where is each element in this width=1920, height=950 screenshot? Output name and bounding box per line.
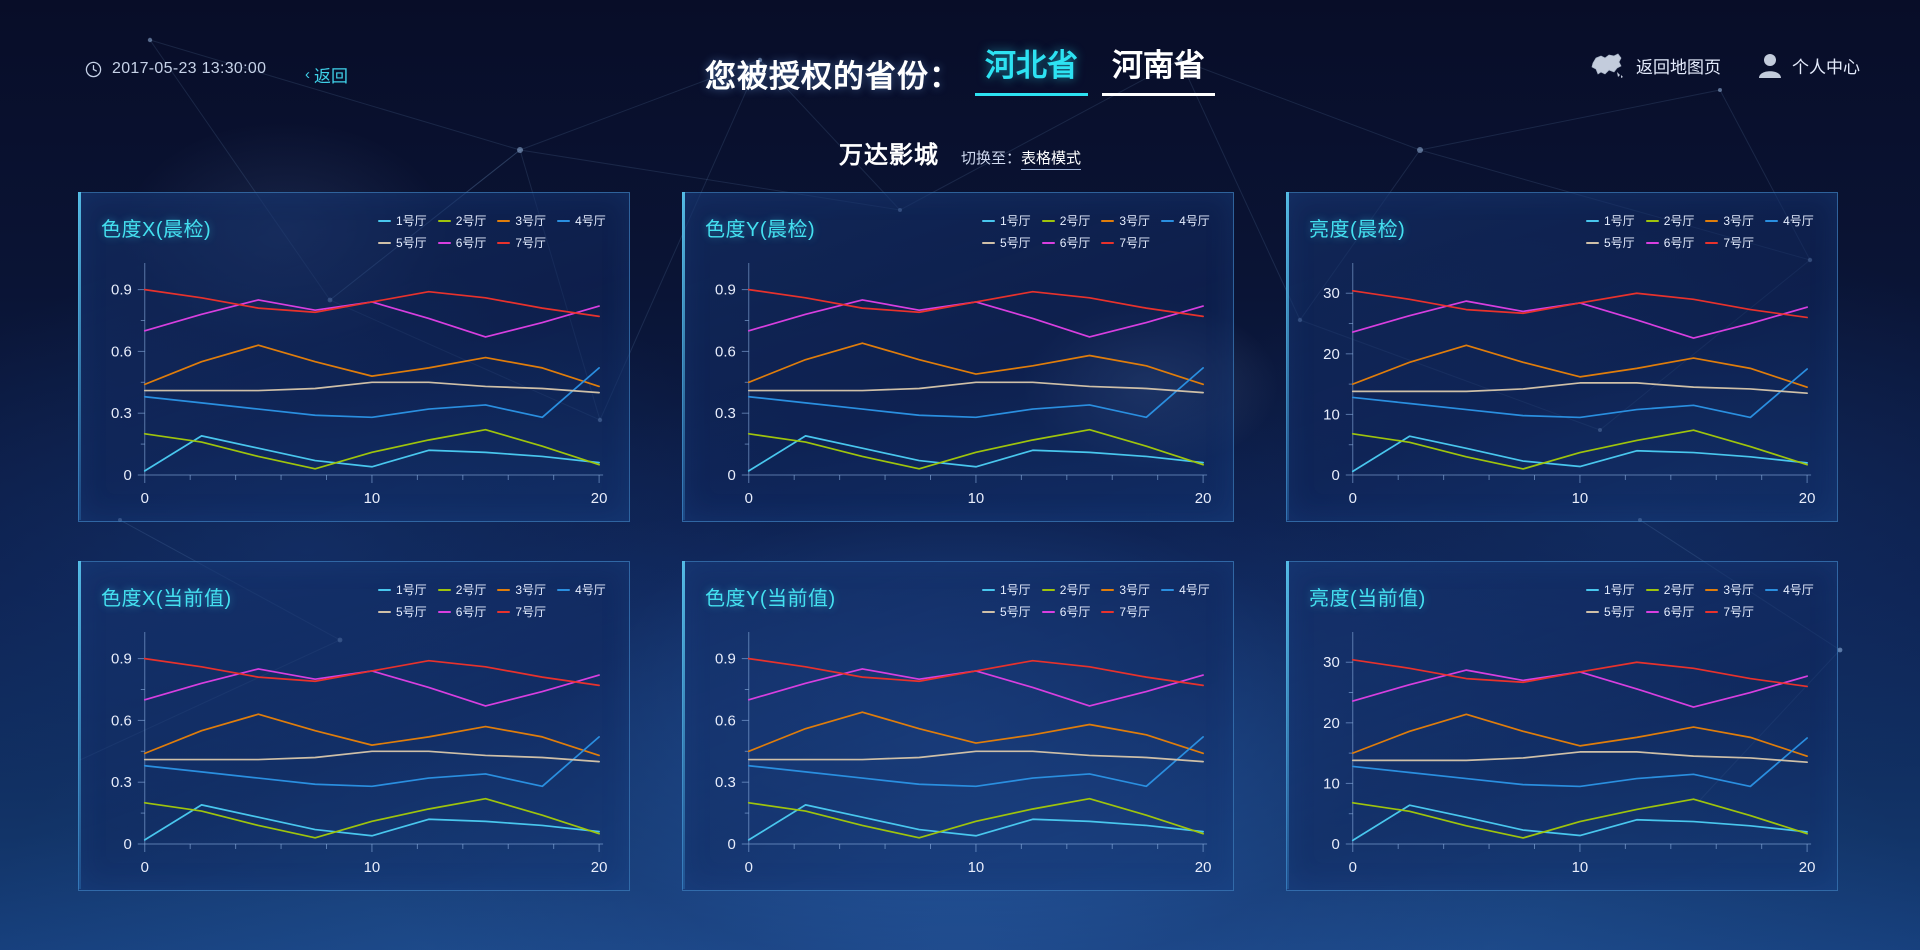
- legend-label: 1号厅: [1000, 581, 1031, 598]
- series-line-2号厅: [145, 430, 599, 469]
- legend-label: 3号厅: [1723, 212, 1754, 229]
- legend-swatch-icon: [557, 589, 570, 591]
- legend-item[interactable]: 7号厅: [1101, 234, 1150, 251]
- y-tick-label: 0: [123, 467, 131, 484]
- legend-label: 4号厅: [1179, 581, 1210, 598]
- legend-label: 7号厅: [1723, 234, 1754, 251]
- legend-swatch-icon: [378, 589, 391, 591]
- user-center-button[interactable]: 个人中心: [1757, 51, 1860, 79]
- legend-item[interactable]: 4号厅: [1765, 212, 1814, 229]
- legend-item[interactable]: 5号厅: [378, 234, 427, 251]
- legend-swatch-icon: [1646, 611, 1659, 613]
- chart-legend: 1号厅2号厅3号厅4号厅5号厅6号厅7号厅: [378, 581, 612, 620]
- legend-item[interactable]: 3号厅: [497, 581, 546, 598]
- legend-label: 4号厅: [1179, 212, 1210, 229]
- chart-title: 色度Y(当前值): [705, 582, 836, 611]
- legend-swatch-icon: [1586, 242, 1599, 244]
- series-line-1号厅: [749, 436, 1203, 471]
- legend-label: 5号厅: [1000, 603, 1031, 620]
- series-line-5号厅: [145, 751, 599, 761]
- chart-title: 色度X(当前值): [101, 582, 232, 611]
- x-tick-label: 0: [1349, 490, 1357, 507]
- legend-label: 6号厅: [1060, 234, 1091, 251]
- x-tick-label: 0: [745, 859, 753, 876]
- legend-item[interactable]: 1号厅: [378, 212, 427, 229]
- legend-label: 2号厅: [1664, 581, 1695, 598]
- series-line-1号厅: [145, 436, 599, 471]
- legend-label: 2号厅: [456, 212, 487, 229]
- series-line-2号厅: [145, 799, 599, 838]
- legend-swatch-icon: [982, 589, 995, 591]
- y-tick-label: 30: [1323, 285, 1340, 302]
- legend-item[interactable]: 4号厅: [557, 581, 606, 598]
- y-tick-label: 0.9: [715, 651, 736, 668]
- chart-plot-area: 00.30.60.901020: [79, 620, 629, 892]
- x-tick-label: 10: [968, 859, 985, 876]
- legend-swatch-icon: [1042, 242, 1055, 244]
- chart-panel-brightness-morning: 亮度(晨检)1号厅2号厅3号厅4号厅5号厅6号厅7号厅010203001020: [1286, 192, 1838, 522]
- y-tick-label: 0.3: [715, 405, 736, 422]
- series-line-5号厅: [749, 382, 1203, 392]
- series-line-5号厅: [1353, 752, 1807, 762]
- legend-label: 1号厅: [396, 212, 427, 229]
- y-tick-label: 0: [1331, 467, 1339, 484]
- y-tick-label: 0.3: [111, 405, 132, 422]
- series-line-3号厅: [145, 345, 599, 386]
- y-tick-label: 0: [1331, 836, 1339, 853]
- legend-item[interactable]: 6号厅: [1646, 603, 1695, 620]
- legend-swatch-icon: [1586, 589, 1599, 591]
- legend-item[interactable]: 6号厅: [1042, 603, 1091, 620]
- legend-swatch-icon: [1705, 611, 1718, 613]
- legend-label: 3号厅: [1723, 581, 1754, 598]
- legend-item[interactable]: 3号厅: [497, 212, 546, 229]
- legend-swatch-icon: [1586, 220, 1599, 222]
- series-line-1号厅: [145, 805, 599, 840]
- series-line-1号厅: [1353, 805, 1807, 840]
- legend-label: 3号厅: [1119, 212, 1150, 229]
- legend-item[interactable]: 1号厅: [378, 581, 427, 598]
- legend-swatch-icon: [1705, 220, 1718, 222]
- legend-item[interactable]: 1号厅: [1586, 212, 1635, 229]
- legend-label: 6号厅: [456, 234, 487, 251]
- legend-label: 3号厅: [515, 212, 546, 229]
- switch-view-prefix: 切换至：: [961, 147, 1021, 168]
- chart-panel-chroma-x-current: 色度X(当前值)1号厅2号厅3号厅4号厅5号厅6号厅7号厅00.30.60.90…: [78, 561, 630, 891]
- series-line-7号厅: [749, 659, 1203, 686]
- legend-swatch-icon: [982, 220, 995, 222]
- series-line-3号厅: [749, 712, 1203, 753]
- legend-item[interactable]: 5号厅: [1586, 603, 1635, 620]
- legend-swatch-icon: [1705, 589, 1718, 591]
- legend-swatch-icon: [1161, 220, 1174, 222]
- switch-view-control: 切换至： 表格模式: [961, 147, 1081, 170]
- legend-label: 6号厅: [1664, 234, 1695, 251]
- legend-label: 5号厅: [1000, 234, 1031, 251]
- x-tick-label: 20: [591, 490, 608, 507]
- series-line-2号厅: [1353, 799, 1807, 838]
- cinema-name: 万达影城: [839, 135, 939, 170]
- y-tick-label: 0.9: [715, 282, 736, 299]
- legend-label: 4号厅: [1783, 212, 1814, 229]
- series-line-7号厅: [749, 290, 1203, 317]
- legend-item[interactable]: 2号厅: [1042, 212, 1091, 229]
- series-line-5号厅: [145, 382, 599, 392]
- chart-title: 亮度(当前值): [1309, 582, 1426, 611]
- x-tick-label: 0: [141, 490, 149, 507]
- legend-item[interactable]: 6号厅: [438, 603, 487, 620]
- legend-item[interactable]: 7号厅: [497, 603, 546, 620]
- legend-item[interactable]: 4号厅: [557, 212, 606, 229]
- series-line-4号厅: [749, 737, 1203, 786]
- legend-item[interactable]: 2号厅: [1646, 581, 1695, 598]
- legend-item[interactable]: 5号厅: [1586, 234, 1635, 251]
- x-tick-label: 0: [141, 859, 149, 876]
- legend-item[interactable]: 3号厅: [1705, 581, 1754, 598]
- series-line-6号厅: [1353, 670, 1807, 707]
- chart-panel-chroma-x-morning: 色度X(晨检)1号厅2号厅3号厅4号厅5号厅6号厅7号厅00.30.60.901…: [78, 192, 630, 522]
- legend-item[interactable]: 4号厅: [1161, 581, 1210, 598]
- legend-label: 2号厅: [1060, 212, 1091, 229]
- series-line-2号厅: [749, 430, 1203, 469]
- chart-panel-chroma-y-morning: 色度Y(晨检)1号厅2号厅3号厅4号厅5号厅6号厅7号厅00.30.60.901…: [682, 192, 1234, 522]
- legend-swatch-icon: [438, 611, 451, 613]
- x-tick-label: 0: [1349, 859, 1357, 876]
- legend-label: 3号厅: [1119, 581, 1150, 598]
- legend-item[interactable]: 1号厅: [1586, 581, 1635, 598]
- chart-panel-chroma-y-current: 色度Y(当前值)1号厅2号厅3号厅4号厅5号厅6号厅7号厅00.30.60.90…: [682, 561, 1234, 891]
- legend-item[interactable]: 1号厅: [982, 581, 1031, 598]
- legend-swatch-icon: [1765, 589, 1778, 591]
- x-tick-label: 10: [1572, 859, 1589, 876]
- x-tick-label: 0: [745, 490, 753, 507]
- legend-item[interactable]: 2号厅: [438, 581, 487, 598]
- province-tab-hebei[interactable]: 河北省: [975, 40, 1088, 96]
- legend-item[interactable]: 2号厅: [438, 212, 487, 229]
- series-line-7号厅: [145, 290, 599, 317]
- user-avatar-icon: [1757, 51, 1783, 79]
- legend-label: 1号厅: [1604, 212, 1635, 229]
- x-tick-label: 20: [1195, 490, 1212, 507]
- series-line-1号厅: [749, 805, 1203, 840]
- legend-label: 3号厅: [515, 581, 546, 598]
- return-to-map-button[interactable]: 返回地图页: [1587, 50, 1721, 80]
- header-actions: 返回地图页 个人中心: [1587, 50, 1860, 80]
- chart-plot-area: 00.30.60.901020: [683, 251, 1233, 523]
- legend-item[interactable]: 7号厅: [1705, 603, 1754, 620]
- legend-swatch-icon: [1646, 242, 1659, 244]
- y-tick-label: 10: [1323, 775, 1340, 792]
- page-title-label: 您被授权的省份：: [705, 51, 961, 96]
- legend-swatch-icon: [1042, 611, 1055, 613]
- y-tick-label: 0.3: [715, 774, 736, 791]
- legend-label: 1号厅: [1604, 581, 1635, 598]
- legend-label: 5号厅: [396, 234, 427, 251]
- chart-panel-brightness-current: 亮度(当前值)1号厅2号厅3号厅4号厅5号厅6号厅7号厅010203001020: [1286, 561, 1838, 891]
- chart-legend: 1号厅2号厅3号厅4号厅5号厅6号厅7号厅: [1586, 212, 1820, 251]
- legend-swatch-icon: [1101, 611, 1114, 613]
- legend-label: 7号厅: [515, 234, 546, 251]
- legend-label: 4号厅: [575, 581, 606, 598]
- legend-item[interactable]: 6号厅: [1646, 234, 1695, 251]
- series-line-3号厅: [145, 714, 599, 755]
- legend-swatch-icon: [1705, 242, 1718, 244]
- series-line-5号厅: [1353, 383, 1807, 393]
- legend-swatch-icon: [1646, 220, 1659, 222]
- legend-swatch-icon: [378, 611, 391, 613]
- legend-swatch-icon: [1161, 589, 1174, 591]
- legend-swatch-icon: [557, 220, 570, 222]
- x-tick-label: 20: [1799, 490, 1816, 507]
- legend-item[interactable]: 5号厅: [982, 234, 1031, 251]
- legend-swatch-icon: [1042, 220, 1055, 222]
- legend-label: 1号厅: [1000, 212, 1031, 229]
- legend-item[interactable]: 7号厅: [497, 234, 546, 251]
- cinema-subtitle-bar: 万达影城 切换至： 表格模式: [0, 135, 1920, 170]
- return-to-map-label: 返回地图页: [1636, 53, 1721, 78]
- legend-swatch-icon: [378, 242, 391, 244]
- legend-swatch-icon: [497, 242, 510, 244]
- legend-label: 2号厅: [1060, 581, 1091, 598]
- y-tick-label: 20: [1323, 346, 1340, 363]
- legend-item[interactable]: 2号厅: [1042, 581, 1091, 598]
- series-line-3号厅: [749, 343, 1203, 384]
- x-tick-label: 20: [1195, 859, 1212, 876]
- series-line-2号厅: [1353, 430, 1807, 469]
- legend-item[interactable]: 1号厅: [982, 212, 1031, 229]
- legend-swatch-icon: [1101, 242, 1114, 244]
- chart-title: 色度X(晨检): [101, 213, 211, 242]
- legend-item[interactable]: 7号厅: [1705, 234, 1754, 251]
- legend-label: 7号厅: [1119, 234, 1150, 251]
- legend-label: 5号厅: [396, 603, 427, 620]
- chart-plot-area: 010203001020: [1287, 251, 1837, 523]
- legend-swatch-icon: [497, 589, 510, 591]
- legend-swatch-icon: [497, 220, 510, 222]
- chart-plot-area: 00.30.60.901020: [79, 251, 629, 523]
- legend-label: 6号厅: [1664, 603, 1695, 620]
- chart-title: 亮度(晨检): [1309, 213, 1405, 242]
- legend-swatch-icon: [378, 220, 391, 222]
- legend-item[interactable]: 6号厅: [438, 234, 487, 251]
- legend-swatch-icon: [497, 611, 510, 613]
- x-tick-label: 20: [591, 859, 608, 876]
- chart-title: 色度Y(晨检): [705, 213, 815, 242]
- legend-label: 2号厅: [1664, 212, 1695, 229]
- x-tick-label: 10: [968, 490, 985, 507]
- legend-label: 6号厅: [456, 603, 487, 620]
- series-line-6号厅: [1353, 301, 1807, 338]
- legend-swatch-icon: [1646, 589, 1659, 591]
- y-tick-label: 0.9: [111, 282, 132, 299]
- series-line-3号厅: [1353, 345, 1807, 387]
- legend-item[interactable]: 3号厅: [1101, 581, 1150, 598]
- chart-plot-area: 00.30.60.901020: [683, 620, 1233, 892]
- legend-item[interactable]: 2号厅: [1646, 212, 1695, 229]
- legend-item[interactable]: 4号厅: [1765, 581, 1814, 598]
- x-tick-label: 10: [1572, 490, 1589, 507]
- y-tick-label: 0: [123, 836, 131, 853]
- legend-swatch-icon: [1765, 220, 1778, 222]
- legend-swatch-icon: [438, 220, 451, 222]
- series-line-4号厅: [749, 368, 1203, 417]
- chart-legend: 1号厅2号厅3号厅4号厅5号厅6号厅7号厅: [1586, 581, 1820, 620]
- y-tick-label: 0.6: [111, 343, 132, 360]
- legend-item[interactable]: 6号厅: [1042, 234, 1091, 251]
- y-tick-label: 0: [727, 467, 735, 484]
- y-tick-label: 0.6: [715, 712, 736, 729]
- y-tick-label: 30: [1323, 654, 1340, 671]
- legend-label: 7号厅: [515, 603, 546, 620]
- legend-swatch-icon: [438, 242, 451, 244]
- legend-swatch-icon: [438, 589, 451, 591]
- legend-swatch-icon: [1101, 220, 1114, 222]
- y-tick-label: 0.6: [111, 712, 132, 729]
- y-tick-label: 0.9: [111, 651, 132, 668]
- y-tick-label: 10: [1323, 406, 1340, 423]
- x-tick-label: 20: [1799, 859, 1816, 876]
- chart-legend: 1号厅2号厅3号厅4号厅5号厅6号厅7号厅: [982, 212, 1216, 251]
- x-tick-label: 10: [364, 490, 381, 507]
- page-header: 2017-05-23 13:30:00 ‹ 返回 您被授权的省份： 河北省 河南…: [0, 0, 1920, 120]
- legend-item[interactable]: 5号厅: [982, 603, 1031, 620]
- series-line-5号厅: [749, 751, 1203, 761]
- series-line-2号厅: [749, 799, 1203, 838]
- legend-label: 7号厅: [1723, 603, 1754, 620]
- legend-label: 2号厅: [456, 581, 487, 598]
- province-tab-henan[interactable]: 河南省: [1102, 40, 1215, 96]
- y-tick-label: 0.3: [111, 774, 132, 791]
- y-tick-label: 20: [1323, 715, 1340, 732]
- series-line-7号厅: [145, 659, 599, 686]
- series-line-3号厅: [1353, 714, 1807, 756]
- legend-label: 5号厅: [1604, 234, 1635, 251]
- china-map-icon: [1587, 50, 1627, 80]
- switch-to-table-mode-link[interactable]: 表格模式: [1021, 147, 1081, 170]
- legend-label: 4号厅: [575, 212, 606, 229]
- legend-label: 7号厅: [1119, 603, 1150, 620]
- legend-item[interactable]: 5号厅: [378, 603, 427, 620]
- chart-legend: 1号厅2号厅3号厅4号厅5号厅6号厅7号厅: [378, 212, 612, 251]
- legend-swatch-icon: [982, 242, 995, 244]
- legend-item[interactable]: 4号厅: [1161, 212, 1210, 229]
- chart-grid: 色度X(晨检)1号厅2号厅3号厅4号厅5号厅6号厅7号厅00.30.60.901…: [78, 192, 1848, 892]
- chart-legend: 1号厅2号厅3号厅4号厅5号厅6号厅7号厅: [982, 581, 1216, 620]
- legend-label: 5号厅: [1604, 603, 1635, 620]
- legend-item[interactable]: 7号厅: [1101, 603, 1150, 620]
- y-tick-label: 0.6: [715, 343, 736, 360]
- legend-swatch-icon: [1101, 589, 1114, 591]
- legend-label: 4号厅: [1783, 581, 1814, 598]
- legend-label: 6号厅: [1060, 603, 1091, 620]
- legend-item[interactable]: 3号厅: [1705, 212, 1754, 229]
- user-center-label: 个人中心: [1792, 53, 1860, 78]
- y-tick-label: 0: [727, 836, 735, 853]
- legend-item[interactable]: 3号厅: [1101, 212, 1150, 229]
- legend-label: 1号厅: [396, 581, 427, 598]
- x-tick-label: 10: [364, 859, 381, 876]
- series-line-1号厅: [1353, 436, 1807, 471]
- legend-swatch-icon: [1586, 611, 1599, 613]
- legend-swatch-icon: [1042, 589, 1055, 591]
- legend-swatch-icon: [982, 611, 995, 613]
- chart-plot-area: 010203001020: [1287, 620, 1837, 892]
